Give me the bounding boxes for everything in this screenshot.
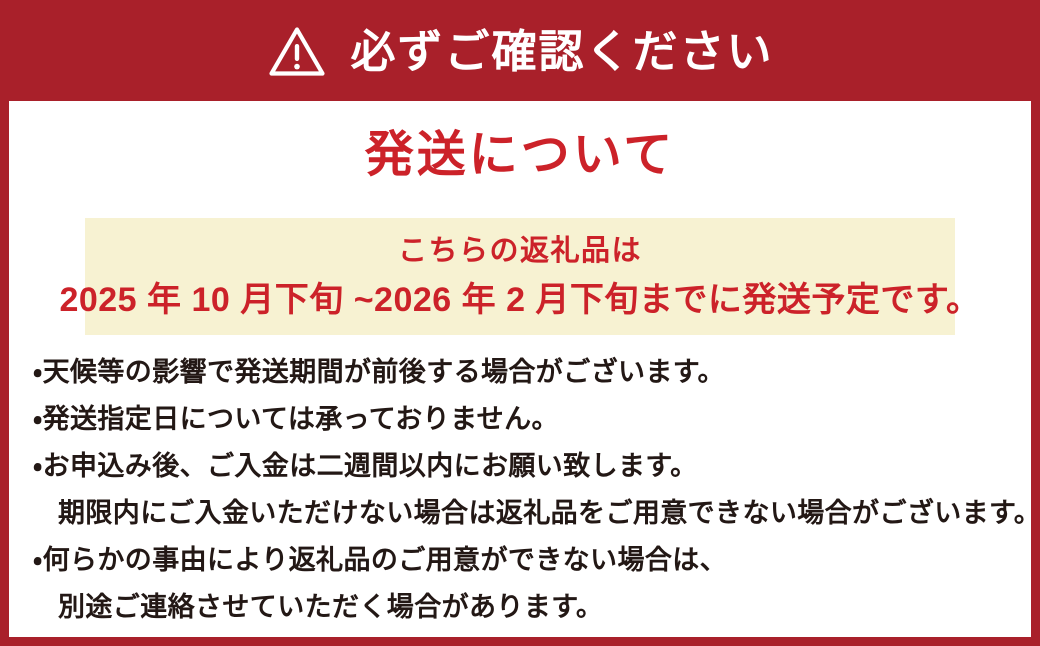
notice-header-banner: 必ずご確認ください bbox=[0, 0, 1040, 101]
note-list-item: ・天候等の影響で発送期間が前後する場合がございます。 bbox=[33, 359, 1023, 386]
shipping-notice-card: 必ずご確認ください 発送について こちらの返礼品は 2025 年 10 月下旬 … bbox=[0, 0, 1040, 646]
bullet-marker: ・ bbox=[33, 545, 43, 575]
note-list-item-continuation: 別途ご連絡させていただく場合があります。 bbox=[33, 594, 1023, 621]
note-text: 別途ご連絡させていただく場合があります。 bbox=[58, 592, 603, 622]
highlight-line-1: こちらの返礼品は bbox=[398, 233, 642, 269]
warning-triangle-icon bbox=[266, 24, 328, 80]
note-text: お申込み後、ご入金は二週間以内にお願い致します。 bbox=[43, 451, 698, 481]
section-title: 発送について bbox=[9, 127, 1031, 183]
header-title: 必ずご確認ください bbox=[350, 29, 773, 74]
bullet-marker: ・ bbox=[33, 357, 43, 387]
note-list-item: ・何らかの事由により返礼品のご用意ができない場合は、 bbox=[33, 547, 1023, 574]
note-text: 発送指定日については承っておりません。 bbox=[43, 404, 559, 434]
note-list-item-continuation: 期限内にご入金いただけない場合は返礼品をご用意できない場合がございます。 bbox=[33, 500, 1023, 527]
note-text: 何らかの事由により返礼品のご用意ができない場合は、 bbox=[43, 545, 727, 575]
bullet-marker: ・ bbox=[33, 451, 43, 481]
shipping-period-highlight-box: こちらの返礼品は 2025 年 10 月下旬 ~2026 年 2 月下旬までに発… bbox=[85, 218, 955, 335]
note-text: 期限内にご入金いただけない場合は返礼品をご用意できない場合がございます。 bbox=[58, 498, 1040, 528]
bullet-marker: ・ bbox=[33, 404, 43, 434]
note-text: 天候等の影響で発送期間が前後する場合がございます。 bbox=[43, 357, 725, 387]
note-list: ・天候等の影響で発送期間が前後する場合がございます。 ・発送指定日については承っ… bbox=[33, 359, 1023, 641]
note-list-item: ・お申込み後、ご入金は二週間以内にお願い致します。 bbox=[33, 453, 1023, 480]
note-list-item: ・発送指定日については承っておりません。 bbox=[33, 406, 1023, 433]
highlight-line-2: 2025 年 10 月下旬 ~2026 年 2 月下旬までに発送予定です。 bbox=[59, 278, 980, 322]
